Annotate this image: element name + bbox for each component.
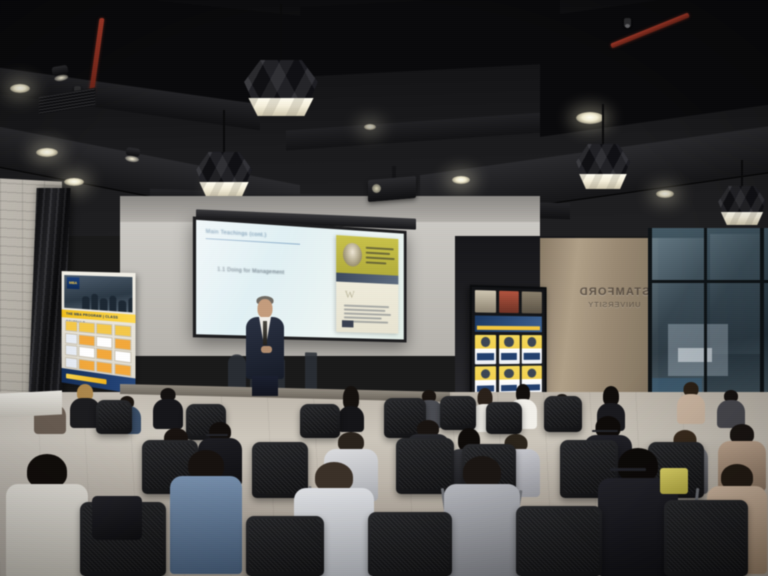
chair[interactable]	[368, 512, 452, 576]
book-cover-image: W	[336, 235, 398, 334]
poster-cell	[96, 348, 113, 361]
presenter-hands	[261, 346, 272, 353]
book-cover-strip	[336, 273, 398, 285]
pendant-lamp-3	[576, 104, 630, 202]
chair[interactable]	[516, 506, 602, 576]
author-portrait	[343, 242, 362, 267]
slide-bullet-text: 1.1 Doing for Management	[217, 267, 328, 279]
shelf-book	[522, 291, 542, 313]
poster-cell	[114, 324, 131, 337]
pendant-lamp-4	[718, 160, 766, 236]
shelf-book	[475, 290, 496, 313]
book-cover-band	[336, 235, 398, 276]
pendant-lamp-2	[196, 110, 252, 206]
speaker-card	[499, 335, 520, 364]
eyeglasses	[610, 468, 646, 471]
projector-lens	[372, 184, 381, 193]
poster-cell	[79, 346, 95, 359]
poster-cell	[65, 320, 77, 332]
board-shelf	[475, 290, 542, 314]
downlight-6	[364, 124, 376, 130]
poster-cell	[96, 336, 113, 349]
downlight-4	[64, 178, 84, 186]
presenter-tie	[263, 321, 267, 345]
chair[interactable]	[246, 516, 324, 576]
poster-cell	[114, 350, 131, 364]
poster-cell	[114, 337, 131, 350]
poster-badge: MBA	[67, 277, 80, 289]
track-spotlight-2	[126, 147, 141, 157]
poster-cell	[79, 334, 95, 347]
eyeglasses	[592, 430, 618, 432]
poster-cell	[79, 321, 95, 333]
poster-cell	[96, 323, 113, 336]
presentation-slide: Main Teachings (cont.) 1.1 Doing for Man…	[196, 220, 404, 340]
poster-cell	[65, 345, 77, 357]
speaker-card	[475, 335, 496, 364]
projection-screen[interactable]: Main Teachings (cont.) 1.1 Doing for Man…	[193, 216, 407, 342]
eyeglasses	[206, 434, 228, 436]
laptop-bag	[92, 496, 142, 540]
presenter-head	[258, 299, 273, 318]
track-spotlight-1	[51, 65, 68, 77]
slide-title: Main Teachings (cont.)	[206, 229, 331, 243]
downlight-3	[36, 148, 58, 157]
book-monogram: W	[345, 289, 355, 301]
sprinkler-head	[624, 18, 631, 27]
speaker-card	[522, 335, 542, 364]
poster-cell	[65, 332, 77, 344]
table-surface	[0, 390, 62, 417]
board-banner	[475, 315, 542, 332]
shelf-book	[499, 291, 519, 313]
presentation-room-photo: STAMFORD UNIVERSITY Main Teachings (cont…	[0, 0, 768, 576]
poster-photo: MBA	[64, 275, 132, 312]
downlight-7	[452, 176, 470, 184]
downlight-8	[656, 190, 674, 198]
handbag	[660, 468, 688, 494]
pendant-lamp-1	[244, 4, 318, 122]
downlight-2	[10, 84, 30, 93]
chair[interactable]	[664, 500, 748, 576]
